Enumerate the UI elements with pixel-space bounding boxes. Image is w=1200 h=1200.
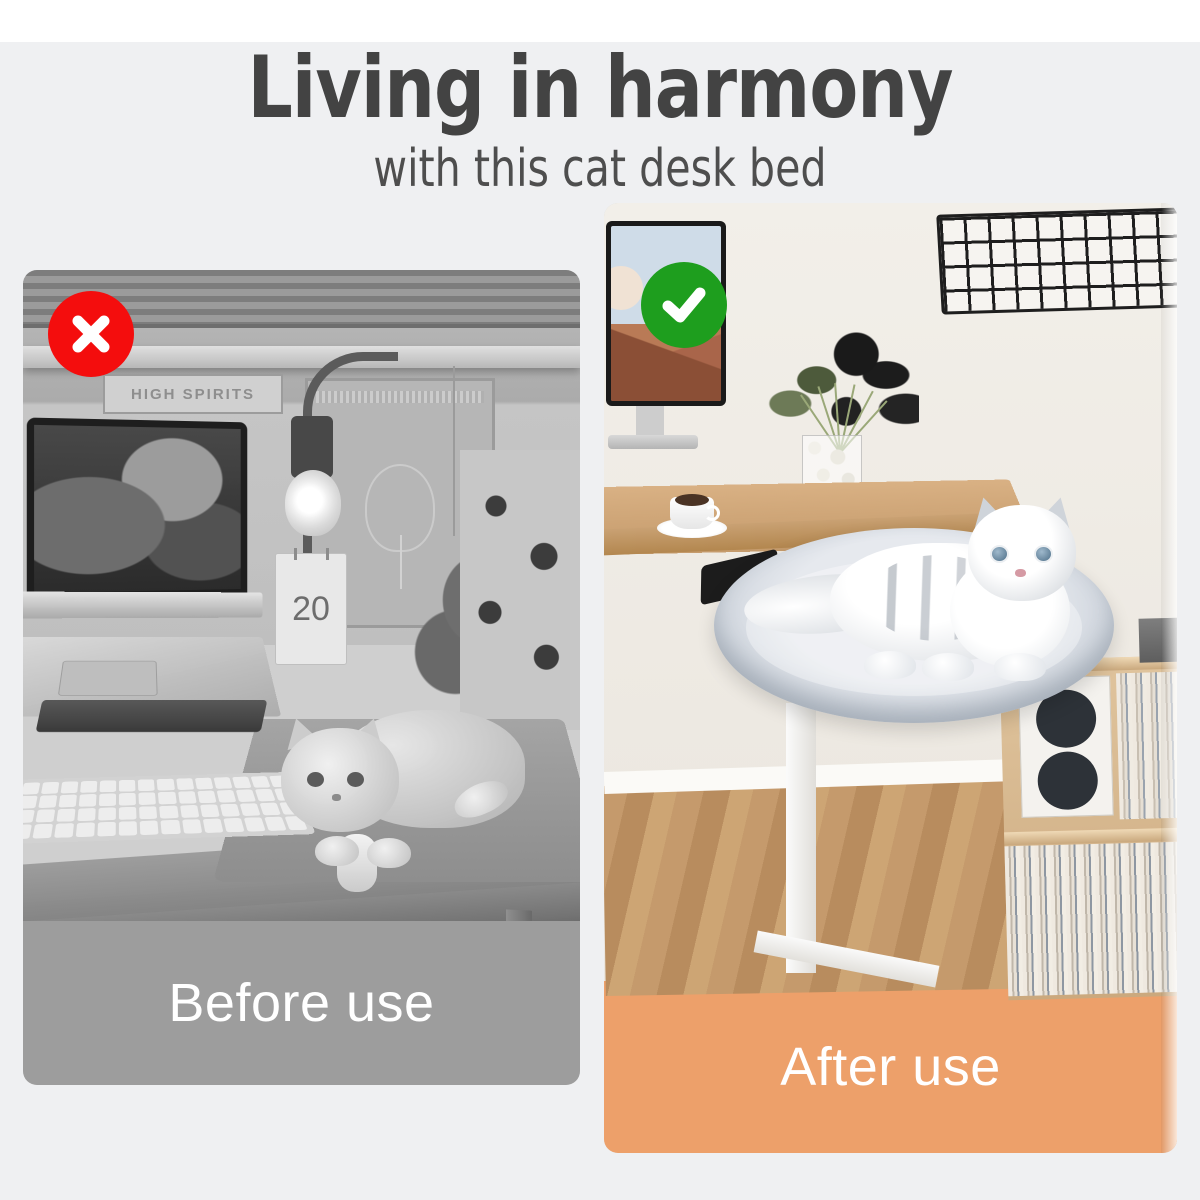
cross-icon (48, 291, 134, 377)
cat-head (281, 728, 399, 832)
calendar-date: 20 (292, 590, 330, 629)
laptop-hinge (23, 592, 262, 619)
monitor-stand-foot (608, 435, 698, 449)
before-caption-label: Before use (168, 972, 434, 1034)
cat-paw-front-right (367, 838, 411, 868)
laptop-screen (27, 418, 248, 601)
check-icon (641, 262, 727, 348)
cat-nose (332, 794, 341, 801)
wallpaper-sun (611, 266, 643, 310)
cat-eye-left (990, 545, 1009, 563)
desk-leg-column (786, 703, 816, 973)
edison-bulb-icon (285, 470, 341, 536)
speaker-driver-lower (1037, 751, 1098, 811)
laptop-stand (36, 700, 268, 732)
cat-in-bed (772, 503, 1102, 693)
cat-head (968, 505, 1076, 601)
lamp-socket (291, 416, 333, 478)
after-caption-label: After use (780, 1036, 1001, 1098)
laptop-trackpad (58, 661, 158, 696)
cat-eye-right (1034, 545, 1053, 563)
hanging-cord (453, 366, 455, 536)
before-panel[interactable]: HIGH SPIRITS (23, 270, 580, 1085)
cat-nose (1015, 569, 1026, 577)
cat-paw-front-left (315, 836, 359, 866)
cat-paw-right (994, 653, 1046, 681)
vinyl-records-lower (1004, 842, 1177, 997)
page-subtitle: with this cat desk bed (72, 138, 1128, 200)
wall-sign: HIGH SPIRITS (103, 374, 283, 414)
coffee-surface (675, 494, 709, 506)
comparison-infographic: Living in harmony with this cat desk bed… (0, 0, 1200, 1200)
laptop-wallpaper (34, 425, 241, 593)
record-shelf (1000, 656, 1177, 1001)
cat-paw-middle (922, 653, 974, 681)
desk-calendar: 20 (275, 553, 347, 665)
rose-stem (400, 535, 402, 589)
cat-eye-right (347, 772, 364, 787)
header: Living in harmony with this cat desk bed (0, 40, 1200, 200)
cat-paw-left (864, 651, 916, 679)
cat-on-desk (275, 688, 525, 903)
before-caption-bar: Before use (23, 921, 580, 1085)
after-caption-bar: After use (604, 981, 1177, 1153)
cat-eye-left (307, 772, 324, 787)
espresso-cup (666, 493, 718, 533)
wall-corner-highlight (1161, 203, 1177, 1153)
cup-handle (704, 505, 720, 521)
wire-grid-panel (936, 207, 1177, 314)
page-title: Living in harmony (48, 40, 1152, 136)
external-keyboard (23, 772, 316, 844)
